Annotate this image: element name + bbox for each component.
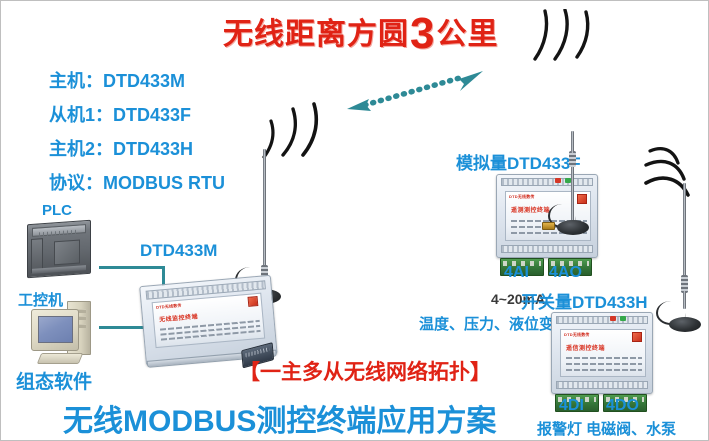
dtd-logo-icon xyxy=(248,296,259,307)
dtd433h-face-title: 遥信测控终端 xyxy=(566,343,605,352)
dtd433f-bottom-vent xyxy=(501,245,593,253)
headline-prefix: 无线距离方圆 xyxy=(223,18,409,51)
dtd433h-face-brand: DTD无线数传 xyxy=(564,332,590,338)
dtd433f-vent xyxy=(501,178,593,186)
spec-line-protocol: 协议：MODBUS RTU xyxy=(49,169,225,195)
plc-access-door xyxy=(54,240,80,266)
plc-top-strip xyxy=(32,224,86,237)
spec-line-master: 主机：DTD433M xyxy=(49,67,225,93)
dtd-logo-icon xyxy=(632,332,642,342)
dtd433h-face-textline xyxy=(566,369,642,371)
antenna-upper-rod xyxy=(571,131,574,153)
dtd433h-vent xyxy=(556,316,648,324)
plc-terminal-dots xyxy=(39,230,79,237)
dtd433h-led-green xyxy=(620,316,626,321)
dtd433f-face-title: 遥测测控终端 xyxy=(511,205,550,214)
headline-number: 3 xyxy=(410,9,435,58)
dtd433h-led-red xyxy=(610,316,616,321)
digital-load-note: 报警灯 电磁阀、水泵 xyxy=(537,418,676,439)
dtd433h-label-4do: 4DO xyxy=(606,397,639,415)
dtd433m-face-label: DTD无线数传 无线监控终端 xyxy=(152,293,266,348)
spec-line-master2: 主机2：DTD433H xyxy=(49,135,225,161)
dtd433h-face-textline xyxy=(566,363,642,365)
dtd433m-face-brand: DTD无线数传 xyxy=(156,303,182,311)
dtd433h-face-textline xyxy=(566,357,642,359)
dtd433f-face-brand: DTD无线数传 xyxy=(509,194,535,200)
plc-label: PLC xyxy=(42,202,72,219)
radio-wave-icon xyxy=(529,9,599,61)
headline-red: 无线距离方圆3公里 xyxy=(223,9,498,53)
antenna-sma-connector xyxy=(542,222,555,230)
dtd433f-label-4ai: 4AI xyxy=(504,264,529,282)
antenna-magnetic-base xyxy=(557,220,589,235)
poster-canvas: 无线距离方圆3公里 主机：DTD433M 从机1：DTD433F 主机2：DTD… xyxy=(0,0,709,441)
headline-suffix: 公里 xyxy=(436,18,498,51)
dtd433h-face-label: DTD无线数传 遥信测控终端 xyxy=(560,329,646,377)
dtd433h-body: DTD无线数传 遥信测控终端 xyxy=(551,312,653,394)
dtd433f-body: DTD无线数传 遥测测控终端 xyxy=(496,174,598,258)
dtd433f-label-4ao: 4AO xyxy=(549,264,582,282)
dtd-logo-icon xyxy=(577,194,587,204)
pc-monitor xyxy=(31,309,79,351)
antenna-icon xyxy=(683,183,686,279)
antenna-coil xyxy=(569,151,576,167)
dtd433m-face-title: 无线监控终端 xyxy=(159,311,199,323)
software-label: 组态软件 xyxy=(16,367,92,394)
pcb-chip xyxy=(142,264,216,270)
pcb-chip xyxy=(142,264,216,270)
dtd433h-bottom-vent xyxy=(556,381,648,389)
antenna-icon xyxy=(263,149,266,269)
bidirectional-dotted-arrow-icon xyxy=(339,61,491,121)
dtd433h-label-4di: 4DI xyxy=(559,397,584,415)
plc-module xyxy=(27,220,91,278)
ipc-label: 工控机 xyxy=(18,289,63,310)
spec-line-slave1: 从机1：DTD433F xyxy=(49,101,225,127)
dtd433m-model-label: DTD433M xyxy=(140,241,217,261)
dtd433f-led-red xyxy=(555,178,561,183)
dtd433f-title: 模拟量DTD433F xyxy=(456,149,581,174)
radio-wave-icon xyxy=(259,99,325,161)
bottom-headline: 无线MODBUS测控终端应用方案 xyxy=(63,396,496,440)
topology-note: 【一主多从无线网络拓扑】 xyxy=(239,356,491,386)
radio-wave-icon xyxy=(644,133,709,199)
pcb-chip xyxy=(142,264,216,270)
dtd433h-title: 开关量DTD433H xyxy=(521,288,648,313)
pc-keyboard xyxy=(37,353,83,364)
pc-screen xyxy=(38,316,73,343)
antenna-magnetic-base xyxy=(669,317,701,332)
spec-list: 主机：DTD433M 从机1：DTD433F 主机2：DTD433H 协议：MO… xyxy=(49,67,225,195)
